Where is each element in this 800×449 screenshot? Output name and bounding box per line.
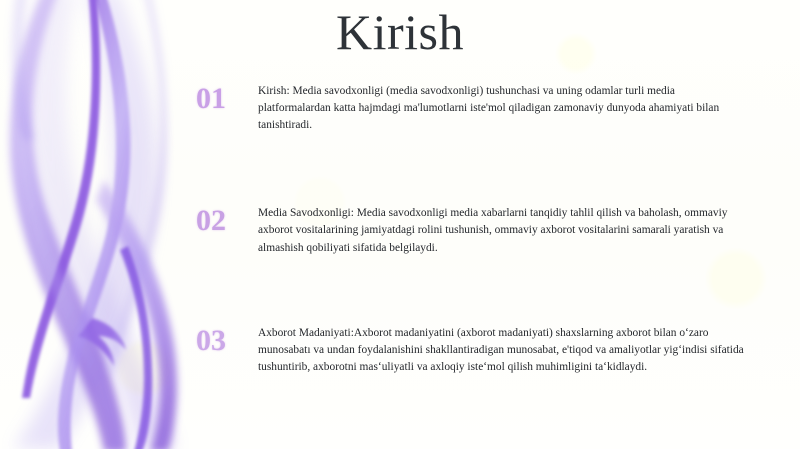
list-item: 01 Kirish: Media savodxonligi (media sav… <box>196 78 744 134</box>
numbered-items-list: 01 Kirish: Media savodxonligi (media sav… <box>196 78 744 376</box>
list-item: 03 Axborot Madaniyati:Axborot madaniyati… <box>196 320 744 376</box>
item-number: 03 <box>196 320 258 356</box>
item-text: Axborot Madaniyati:Axborot madaniyatini … <box>258 320 744 376</box>
item-number: 02 <box>196 200 258 236</box>
item-number: 01 <box>196 78 258 114</box>
slide-title: Kirish <box>0 4 800 62</box>
presentation-slide: Kirish 01 Kirish: Media savodxonligi (me… <box>0 0 800 449</box>
purple-smoke-ribbon-decoration <box>0 0 205 449</box>
list-item: 02 Media Savodxonligi: Media savodxonlig… <box>196 200 744 256</box>
item-text: Kirish: Media savodxonligi (media savodx… <box>258 78 744 134</box>
item-text: Media Savodxonligi: Media savodxonligi m… <box>258 200 744 256</box>
